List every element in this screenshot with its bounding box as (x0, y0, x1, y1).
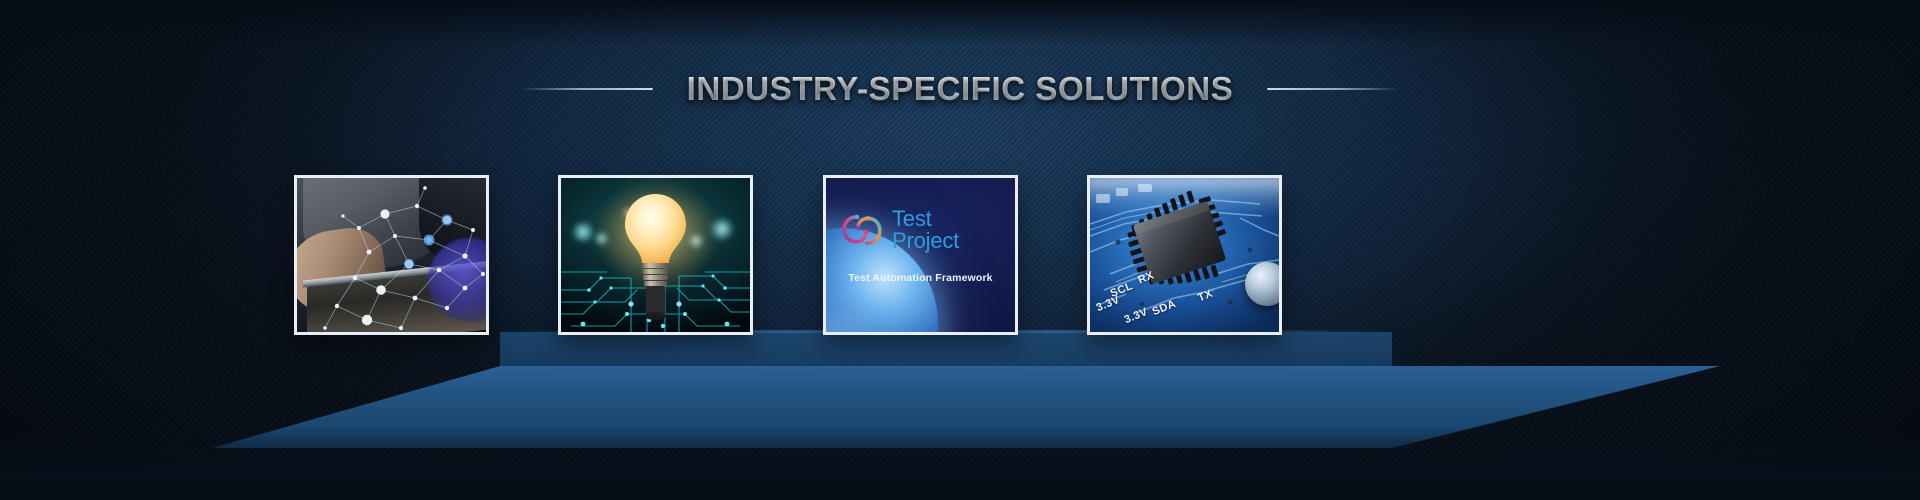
lightbulb-icon (561, 178, 750, 332)
testproject-tagline: Test Automation Framework (826, 272, 1015, 284)
panel-testproject-logo[interactable]: Test Project Test Automation Framework (823, 175, 1018, 335)
industry-solutions-banner: INDUSTRY-SPECIFIC SOLUTIONS (0, 0, 1920, 500)
globe-atmosphere-glow (826, 282, 906, 332)
testproject-wordmark: Test Project (892, 208, 959, 253)
panel-digital-network[interactable] (294, 175, 489, 335)
solution-panels: Test Project Test Automation Framework (0, 0, 1920, 500)
background-bottom-fade (0, 426, 1920, 500)
network-graph-overlay (297, 178, 486, 332)
panel-innovation-lightbulb[interactable] (558, 175, 753, 335)
integrated-chip-icon (1090, 178, 1279, 332)
testproject-mark-icon (840, 208, 884, 252)
logo-word-project: Project (892, 230, 959, 252)
testproject-logo: Test Project (840, 208, 1005, 253)
logo-word-test: Test (892, 208, 959, 230)
panel-circuit-board-chip[interactable]: RX TX SCL SDA 3.3V 3.3V (1087, 175, 1282, 335)
